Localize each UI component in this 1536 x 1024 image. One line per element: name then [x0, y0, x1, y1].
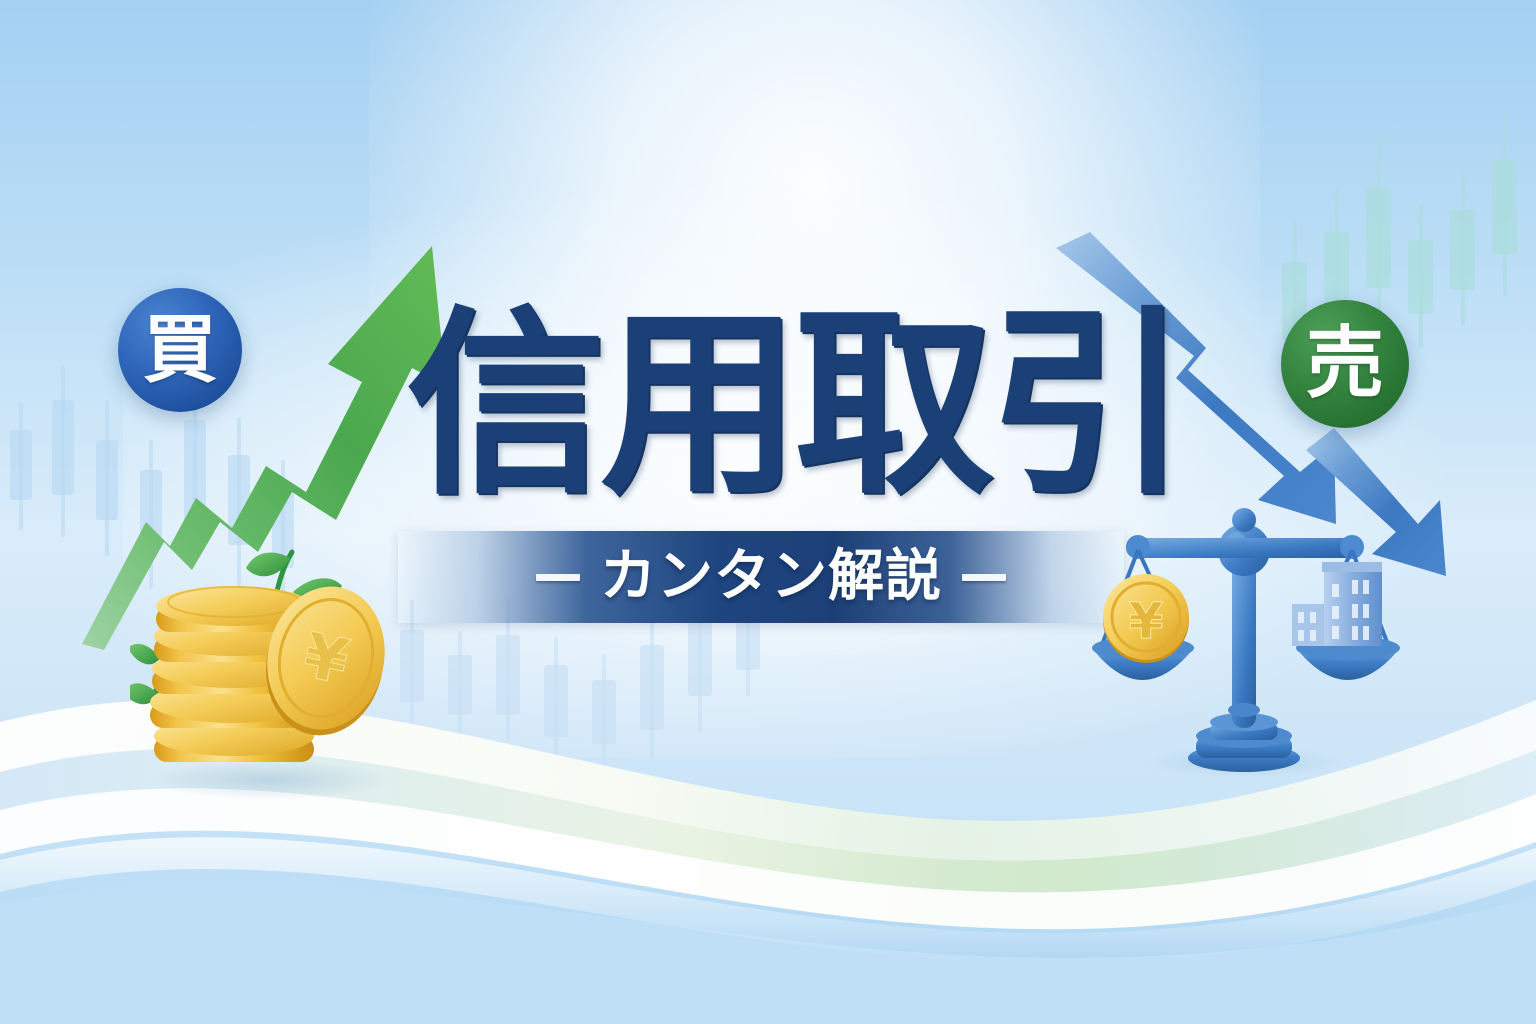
- svg-text:¥: ¥: [1129, 592, 1164, 650]
- yen-coin-on-pan: ¥: [1103, 574, 1189, 663]
- candlestick-body: [1492, 160, 1517, 254]
- subtitle-banner: カンタン解説: [398, 531, 1124, 623]
- candlestick: [1492, 116, 1517, 296]
- subtitle-text: カンタン解説: [600, 549, 942, 605]
- badge-buy[interactable]: 買: [118, 288, 242, 412]
- office-buildings-icon: [1292, 562, 1382, 646]
- badge-buy-label: 買: [143, 313, 217, 387]
- balance-scale: ¥: [1084, 500, 1414, 790]
- candlestick: [10, 402, 32, 530]
- page-title: 信用取引: [406, 306, 1182, 506]
- gold-coin-stack: ¥: [130, 540, 430, 810]
- dash-left-icon: [536, 574, 580, 581]
- title-block: 信用取引: [406, 296, 1126, 516]
- dash-right-icon: [962, 574, 1006, 581]
- candlestick-body: [10, 430, 32, 500]
- badge-sell[interactable]: 売: [1281, 300, 1409, 428]
- badge-sell-label: 売: [1306, 325, 1384, 403]
- banner-image: 買 信用取引 カンタン解説 売: [0, 0, 1536, 1024]
